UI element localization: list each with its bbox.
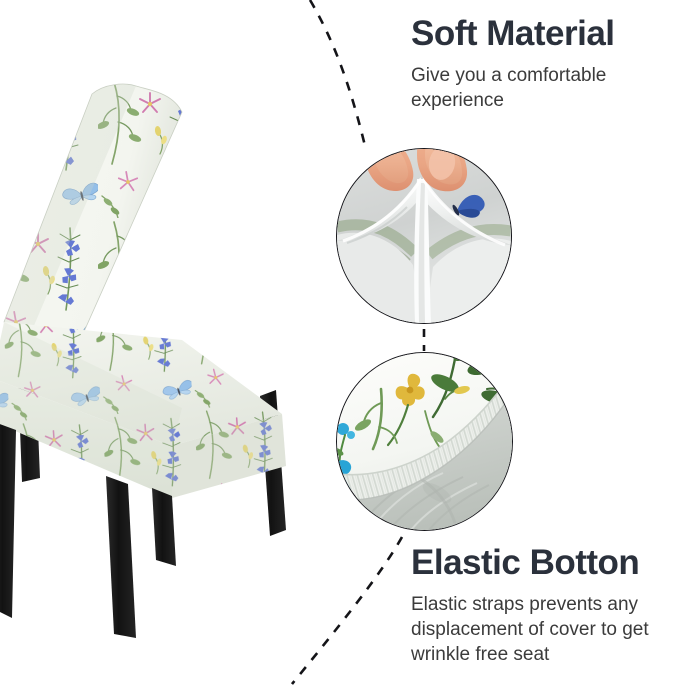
soft-material-detail-photo <box>337 149 511 323</box>
chair-backrest <box>0 78 326 358</box>
feature-description-soft-material: Give you a comfortable experience <box>411 63 679 113</box>
chair-leg-front-center <box>106 476 136 638</box>
chair-leg-front-left <box>0 422 16 618</box>
chair-leg-front-right <box>152 488 176 566</box>
elastic-botton-detail-photo <box>337 353 512 530</box>
feature-block-soft-material: Soft Material Give you a comfortable exp… <box>411 14 679 113</box>
feature-description-elastic-botton: Elastic straps prevents any displacement… <box>411 592 679 667</box>
infographic-canvas: Soft Material Give you a comfortable exp… <box>0 0 679 700</box>
product-chair-image <box>0 78 326 638</box>
detail-circle-soft-material <box>336 148 512 324</box>
feature-heading-elastic-botton: Elastic Botton <box>411 543 679 583</box>
detail-circle-elastic-botton <box>336 352 513 531</box>
feature-heading-soft-material: Soft Material <box>411 14 679 54</box>
feature-block-elastic-botton: Elastic Botton Elastic straps prevents a… <box>411 543 679 667</box>
chair-illustration <box>0 78 326 638</box>
